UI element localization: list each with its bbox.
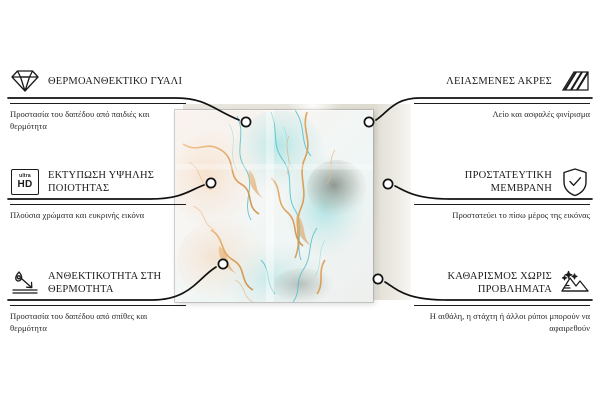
- feature-title: ΕΚΤΥΠΩΣΗ ΥΨΗΛΗΣ ΠΟΙΟΤΗΤΑΣ: [48, 169, 186, 195]
- smooth-edges-icon: [560, 66, 590, 96]
- feature-title: ΠΡΟΣΤΑΤΕΥΤΙΚΗ ΜΕΜΒΡΑΝΗ: [414, 169, 552, 195]
- feature-divider: [10, 103, 186, 104]
- feature-header: ultra HD ΕΚΤΥΠΩΣΗ ΥΨΗΛΗΣ ΠΟΙΟΤΗΤΑΣ: [10, 165, 186, 199]
- feature-title: ΘΕΡΜΟΑΝΘΕΚΤΙΚΟ ΓΥΑΛΙ: [48, 75, 186, 88]
- feature-high-quality-print: ultra HD ΕΚΤΥΠΩΣΗ ΥΨΗΛΗΣ ΠΟΙΟΤΗΤΑΣ Πλούσ…: [10, 165, 186, 222]
- infographic-canvas: ΘΕΡΜΟΑΝΘΕΚΤΙΚΟ ΓΥΑΛΙ Προστασία του δαπέδ…: [0, 0, 600, 400]
- heat-resistance-icon: [10, 268, 40, 298]
- feature-divider: [10, 305, 186, 306]
- feature-header: ΑΝΘΕΚΤΙΚΟΤΗΤΑ ΣΤΗ ΘΕΡΜΟΤΗΤΑ: [10, 266, 186, 300]
- feature-description: Προστασία του δαπέδου από παιδιές και θε…: [10, 109, 186, 132]
- abstract-marble-artwork: [175, 110, 373, 302]
- feature-header: ΘΕΡΜΟΑΝΘΕΚΤΙΚΟ ΓΥΑΛΙ: [10, 64, 186, 98]
- feature-heat-resistance: ΑΝΘΕΚΤΙΚΟΤΗΤΑ ΣΤΗ ΘΕΡΜΟΤΗΤΑ Προστασία το…: [10, 266, 186, 334]
- feature-header: ΛΕΙΑΣΜΕΝΕΣ ΑΚΡΕΣ: [414, 64, 590, 98]
- feature-description: Λείο και ασφαλές φινίρισμα: [414, 109, 590, 121]
- feature-description: Η αιθάλη, η στάχτη ή άλλοι ρύποι μπορούν…: [414, 311, 590, 334]
- feature-description: Προστασία του δαπέδου από σπίθες και θερ…: [10, 311, 186, 334]
- feature-smooth-edges: ΛΕΙΑΣΜΕΝΕΣ ΑΚΡΕΣ Λείο και ασφαλές φινίρι…: [414, 64, 590, 121]
- feature-heat-resistant-glass: ΘΕΡΜΟΑΝΘΕΚΤΙΚΟ ΓΥΑΛΙ Προστασία του δαπέδ…: [10, 64, 186, 132]
- feature-divider: [414, 305, 590, 306]
- product-glass-panel: [175, 110, 373, 302]
- feature-title: ΛΕΙΑΣΜΕΝΕΣ ΑΚΡΕΣ: [414, 75, 552, 88]
- product-backing-edge: [377, 104, 411, 300]
- feature-divider: [414, 103, 590, 104]
- feature-description: Πλούσια χρώματα και ευκρινής εικόνα: [10, 210, 186, 222]
- easy-clean-icon: [560, 268, 590, 298]
- feature-header: ΠΡΟΣΤΑΤΕΥΤΙΚΗ ΜΕΜΒΡΑΝΗ: [414, 165, 590, 199]
- ultra-hd-icon: ultra HD: [10, 167, 40, 197]
- shield-check-icon: [560, 167, 590, 197]
- feature-divider: [10, 204, 186, 205]
- diamond-icon: [10, 66, 40, 96]
- feature-title: ΚΑΘΑΡΙΣΜΟΣ ΧΩΡΙΣ ΠΡΟΒΛΗΜΑΤΑ: [414, 270, 552, 296]
- feature-divider: [414, 204, 590, 205]
- product-image: [175, 104, 411, 304]
- feature-protective-membrane: ΠΡΟΣΤΑΤΕΥΤΙΚΗ ΜΕΜΒΡΑΝΗ Προστατεύει το πί…: [414, 165, 590, 222]
- feature-description: Προστατεύει το πίσω μέρος της εικόνας: [414, 210, 590, 222]
- feature-easy-cleaning: ΚΑΘΑΡΙΣΜΟΣ ΧΩΡΙΣ ΠΡΟΒΛΗΜΑΤΑ Η αιθάλη, η …: [414, 266, 590, 334]
- feature-title: ΑΝΘΕΚΤΙΚΟΤΗΤΑ ΣΤΗ ΘΕΡΜΟΤΗΤΑ: [48, 270, 186, 296]
- ultra-hd-bottom-label: HD: [17, 180, 32, 190]
- feature-header: ΚΑΘΑΡΙΣΜΟΣ ΧΩΡΙΣ ΠΡΟΒΛΗΜΑΤΑ: [414, 266, 590, 300]
